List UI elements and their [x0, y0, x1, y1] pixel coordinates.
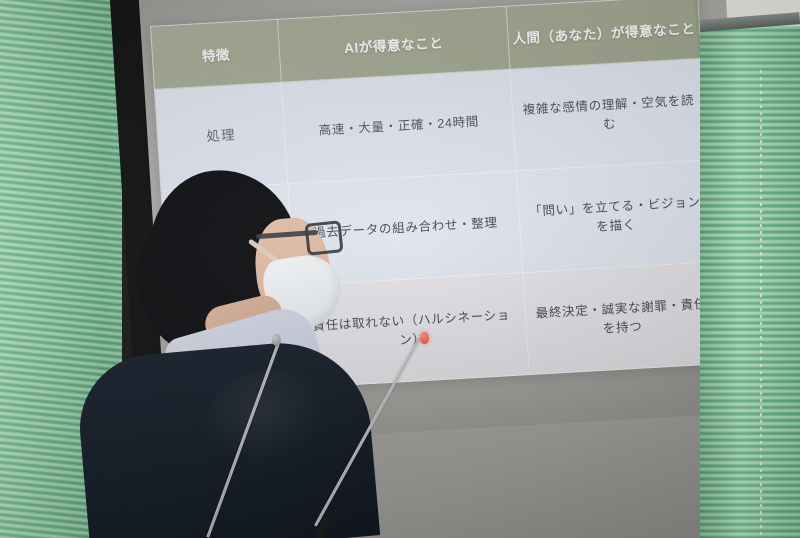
- column-header-feature: 特徴: [151, 19, 282, 89]
- window-blinds-right: [700, 26, 800, 538]
- cell-human-3-text: 最終決定・誠実な謝罪・責任を持つ: [526, 294, 719, 342]
- cell-ai-1-text: 高速・大量・正確・24時間: [284, 111, 513, 143]
- glasses-lens-icon: [304, 220, 343, 256]
- cell-human-1-text: 複雑な感情の理解・空気を読む: [513, 90, 706, 138]
- blinds-cord[interactable]: [760, 70, 762, 538]
- pointer-tip-red-icon: [420, 332, 429, 344]
- cell-human-3: 最終決定・誠実な謝罪・責任を持つ: [523, 262, 721, 375]
- cell-human-2-text: 「問い」を立てる・ビジョンを描く: [519, 192, 712, 240]
- presenter: [60, 170, 360, 538]
- cell-human-2: 「問い」を立てる・ビジョンを描く: [516, 160, 714, 273]
- cell-feature-1-text: 処理: [158, 123, 285, 150]
- screenshot-scene: 特徴 AIが得意なこと 人間（あなた）が得意なこと 処理 高速・大量・正確・24…: [0, 0, 800, 538]
- cell-human-1: 複雑な感情の理解・空気を読む: [510, 58, 708, 171]
- jacket-highlight: [200, 370, 350, 500]
- cell-ai-1: 高速・大量・正確・24時間: [281, 69, 516, 184]
- column-header-human: 人間（あなた）が得意なこと: [506, 0, 702, 69]
- pointer-tip-gray-icon: [272, 334, 281, 346]
